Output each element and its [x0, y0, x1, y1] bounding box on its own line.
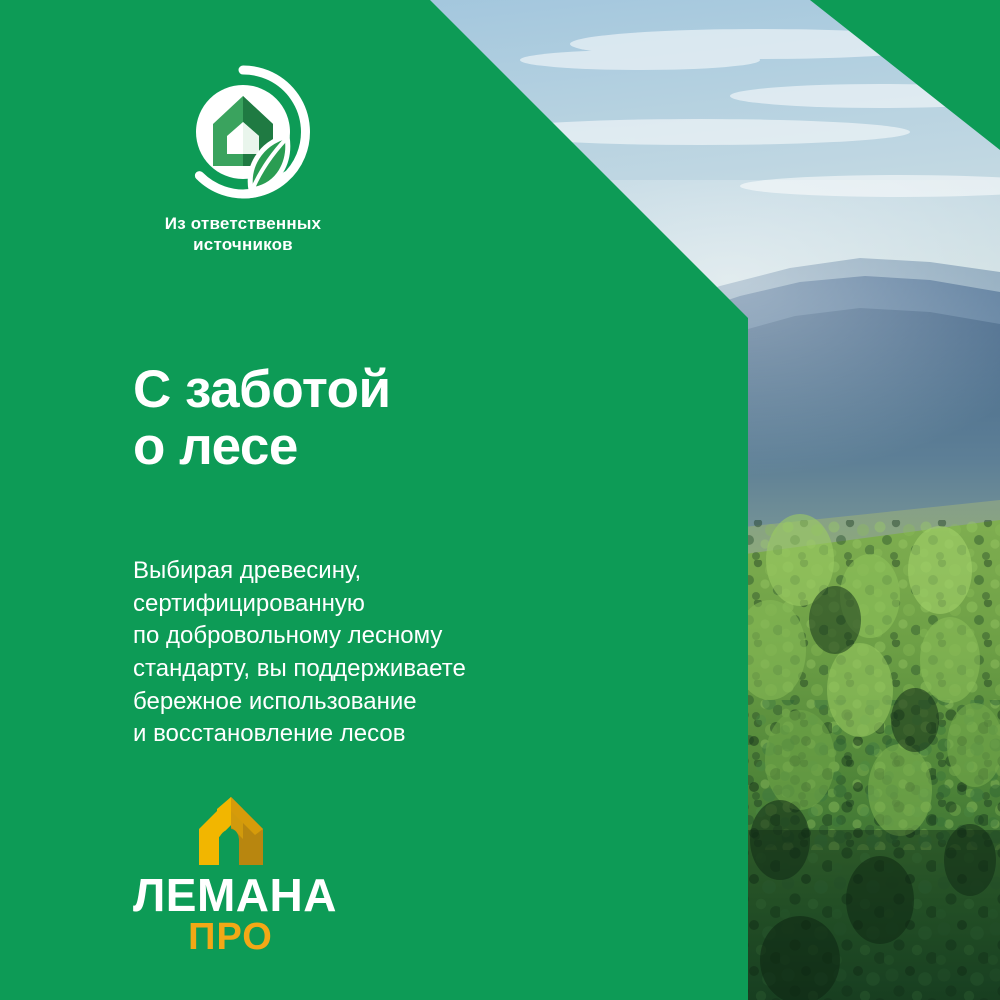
- responsible-sources-house-leaf-circle-icon: [173, 62, 313, 202]
- body-paragraph: Выбирая древесину, сертифицированную по …: [133, 555, 466, 751]
- brand-lockup: ЛЕМАНА ПРО: [133, 795, 328, 956]
- responsible-sources-badge: Из ответственных источников: [133, 62, 353, 255]
- brand-name: ЛЕМАНА: [133, 873, 328, 917]
- lemana-house-icon: [187, 795, 275, 867]
- responsible-sources-caption: Из ответственных источников: [133, 214, 353, 255]
- poster-root: Из ответственных источников С заботой о …: [0, 0, 1000, 1000]
- brand-subname: ПРО: [133, 918, 328, 956]
- page-title: С заботой о лесе: [133, 361, 391, 475]
- poster-content: Из ответственных источников С заботой о …: [0, 0, 1000, 1000]
